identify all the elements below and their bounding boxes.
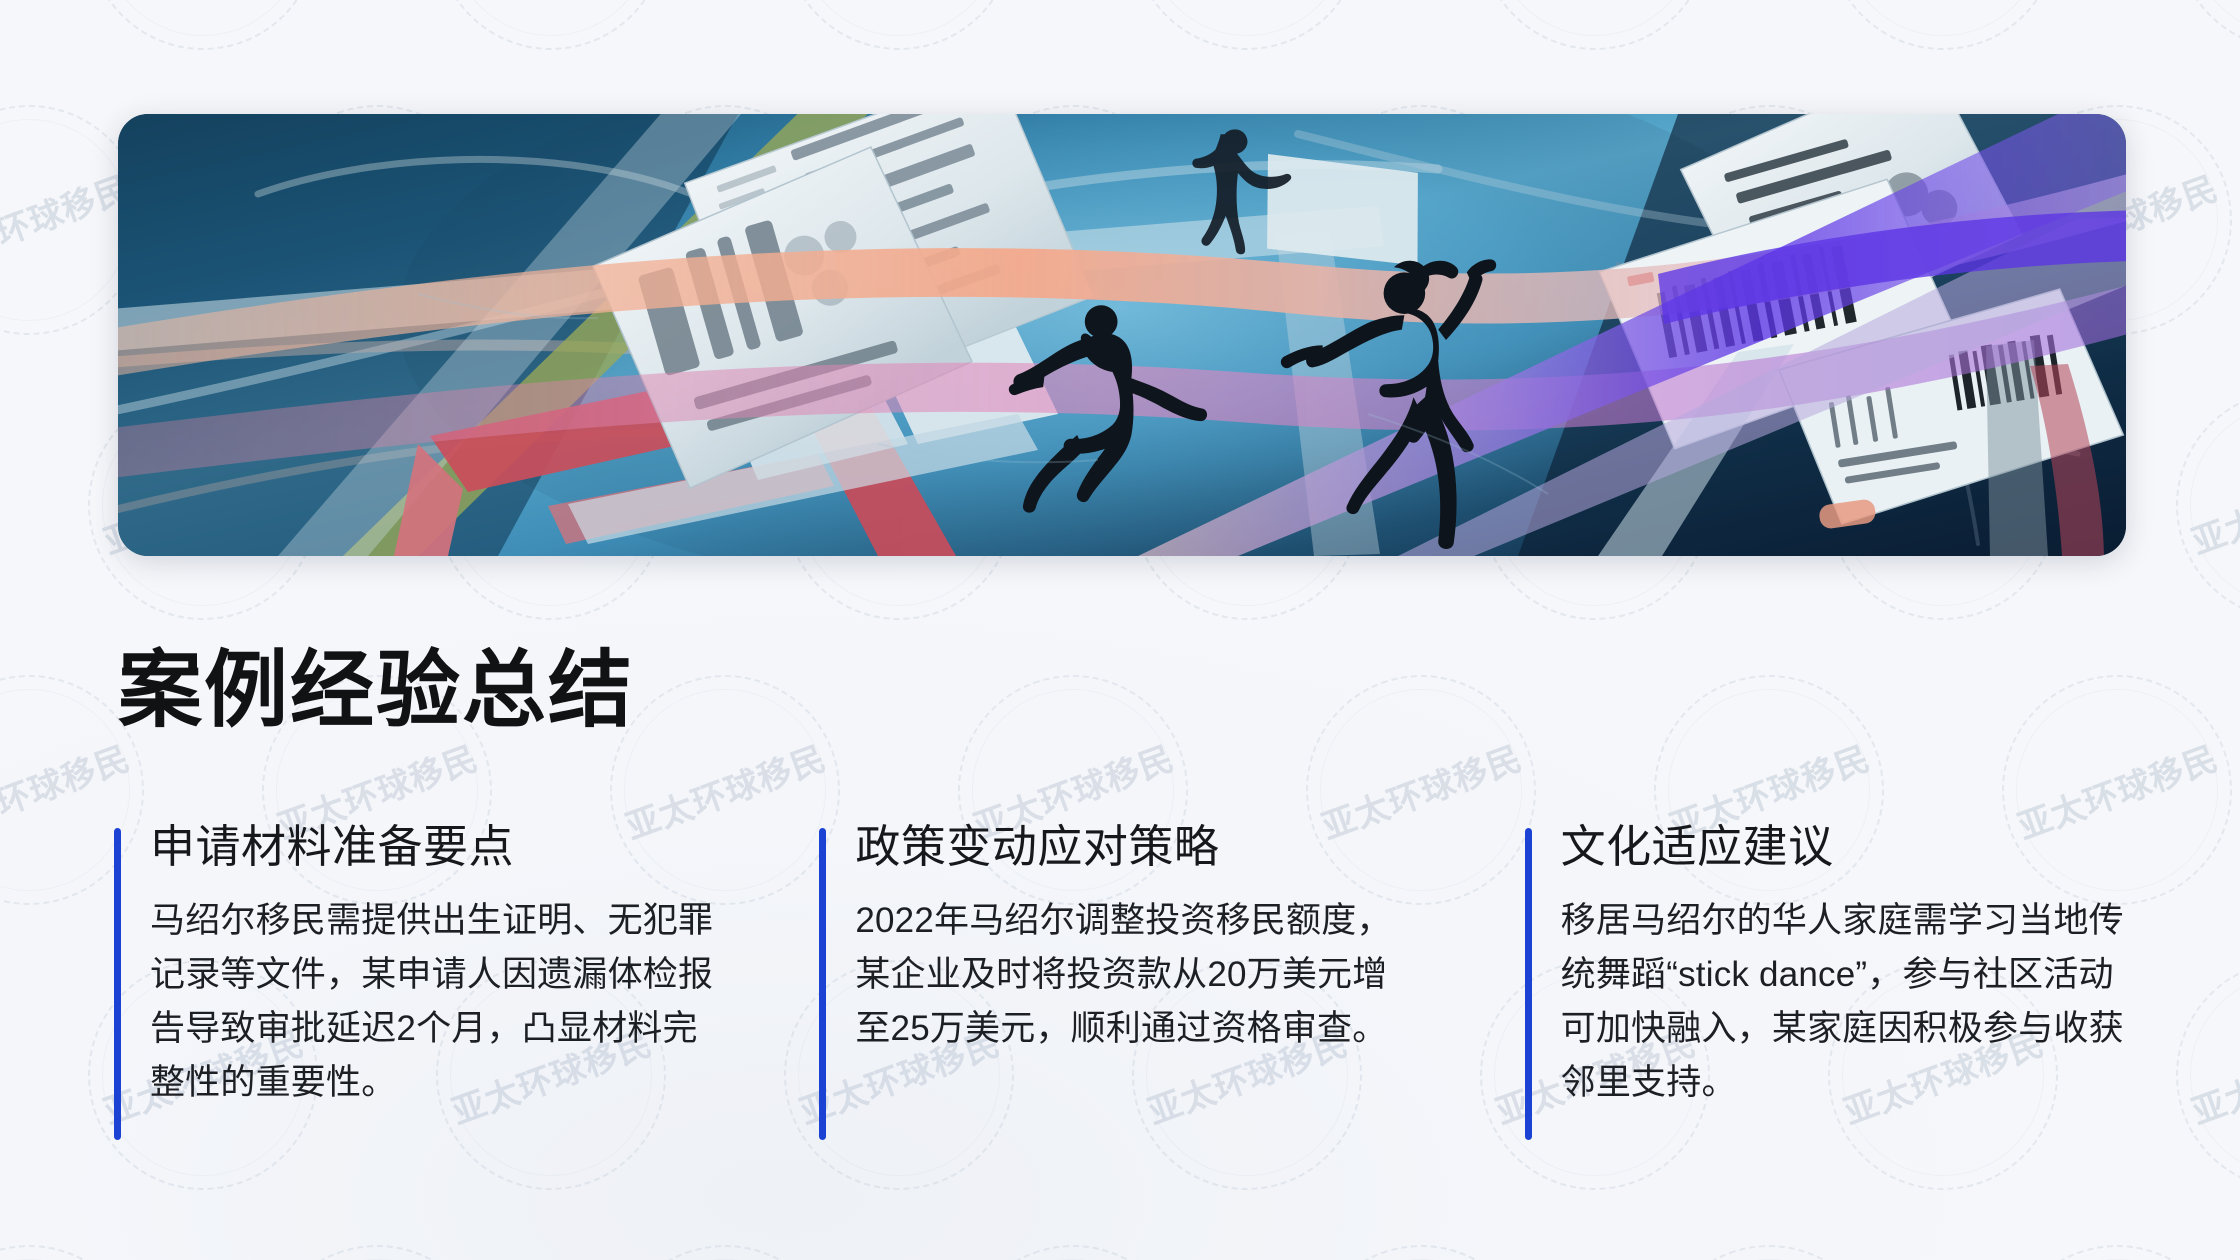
watermark-ring-inner bbox=[2162, 946, 2240, 1205]
watermark-ring-inner bbox=[1640, 1231, 1899, 1260]
card-title: 申请材料准备要点 bbox=[150, 822, 715, 872]
watermark-stamp: 亚太环球移民 bbox=[926, 1213, 1221, 1260]
watermark-stamp: 亚太环球移民 bbox=[2144, 928, 2240, 1223]
watermark-ring-inner bbox=[596, 1231, 855, 1260]
watermark-stamp: 亚太环球移民 bbox=[1796, 0, 2091, 82]
watermark-stamp: 亚太环球移民 bbox=[230, 1213, 525, 1260]
card-body: 移居马绍尔的华人家庭需学习当地传统舞蹈“stick dance”，参与社区活动可… bbox=[1561, 894, 2126, 1110]
watermark-ring-outer bbox=[0, 0, 2, 82]
watermark-ring-outer bbox=[1796, 0, 2091, 82]
watermark-ring-inner bbox=[1988, 1231, 2240, 1260]
hero-illustration bbox=[118, 114, 2126, 556]
accent-bar bbox=[819, 828, 826, 1140]
watermark-stamp: 亚太环球移民 bbox=[1100, 0, 1395, 82]
watermark-stamp: 亚太环球移民 bbox=[2144, 358, 2240, 653]
watermark-stamp: 亚太环球移民 bbox=[0, 0, 2, 82]
accent-bar bbox=[1525, 828, 1532, 1140]
watermark-ring-outer bbox=[1622, 1213, 1917, 1260]
watermark-ring-outer bbox=[2144, 358, 2240, 653]
watermark-ring-outer bbox=[404, 0, 699, 82]
watermark-stamp: 亚太环球移民 bbox=[1970, 1213, 2240, 1260]
watermark-ring-outer bbox=[752, 0, 1047, 82]
watermark-ring-outer bbox=[1448, 0, 1743, 82]
watermark-stamp: 亚太环球移民 bbox=[1448, 0, 1743, 82]
watermark-ring-outer bbox=[56, 0, 351, 82]
watermark-ring-inner bbox=[1292, 1231, 1551, 1260]
watermark-stamp: 亚太环球移民 bbox=[752, 0, 1047, 82]
watermark-stamp: 亚太环球移民 bbox=[0, 358, 2, 653]
summary-card-cultural-adaptation: 文化适应建议 移居马绍尔的华人家庭需学习当地传统舞蹈“stick dance”，… bbox=[1525, 822, 2126, 1146]
watermark-stamp: 亚太环球移民 bbox=[1622, 1213, 1917, 1260]
card-title: 政策变动应对策略 bbox=[855, 822, 1420, 872]
watermark-ring-inner bbox=[248, 1231, 507, 1260]
accent-bar bbox=[114, 828, 121, 1140]
watermark-ring-inner bbox=[74, 0, 333, 64]
watermark-stamp: 亚太环球移民 bbox=[0, 1213, 176, 1260]
watermark-ring-outer bbox=[2144, 0, 2240, 82]
watermark-stamp: 亚太环球移民 bbox=[1274, 1213, 1569, 1260]
watermark-ring-outer bbox=[1274, 1213, 1569, 1260]
watermark-label: 亚太环球移民 bbox=[2175, 1013, 2240, 1138]
watermark-ring-outer bbox=[2144, 928, 2240, 1223]
watermark-stamp: 亚太环球移民 bbox=[2144, 0, 2240, 82]
watermark-ring-outer bbox=[578, 1213, 873, 1260]
page-title: 案例经验总结 bbox=[118, 648, 634, 732]
watermark-ring-inner bbox=[1118, 0, 1377, 64]
card-body: 马绍尔移民需提供出生证明、无犯罪记录等文件，某申请人因遗漏体检报告导致审批延迟2… bbox=[150, 894, 715, 1110]
watermark-ring-outer bbox=[926, 1213, 1221, 1260]
summary-card-policy-change: 政策变动应对策略 2022年马绍尔调整投资移民额度，某企业及时将投资款从20万美… bbox=[819, 822, 1420, 1146]
watermark-ring-inner bbox=[0, 1231, 158, 1260]
watermark-ring-outer bbox=[1970, 1213, 2240, 1260]
watermark-ring-outer bbox=[0, 358, 2, 653]
watermark-stamp: 亚太环球移民 bbox=[404, 0, 699, 82]
watermark-stamp: 亚太环球移民 bbox=[0, 928, 2, 1223]
watermark-stamp: 亚太环球移民 bbox=[56, 0, 351, 82]
watermark-ring-outer bbox=[0, 1213, 176, 1260]
card-body: 2022年马绍尔调整投资移民额度，某企业及时将投资款从20万美元增至25万美元，… bbox=[855, 894, 1420, 1056]
watermark-ring-inner bbox=[944, 1231, 1203, 1260]
summary-card-application-materials: 申请材料准备要点 马绍尔移民需提供出生证明、无犯罪记录等文件，某申请人因遗漏体检… bbox=[114, 822, 715, 1146]
watermark-ring-outer bbox=[0, 928, 2, 1223]
summary-card-list: 申请材料准备要点 马绍尔移民需提供出生证明、无犯罪记录等文件，某申请人因遗漏体检… bbox=[114, 822, 2126, 1146]
watermark-ring-outer bbox=[230, 1213, 525, 1260]
watermark-ring-inner bbox=[422, 0, 681, 64]
card-title: 文化适应建议 bbox=[1561, 822, 2126, 872]
watermark-ring-inner bbox=[2162, 376, 2240, 635]
page-root: 案例经验总结 申请材料准备要点 马绍尔移民需提供出生证明、无犯罪记录等文件，某申… bbox=[0, 0, 2240, 1260]
watermark-ring-outer bbox=[1100, 0, 1395, 82]
watermark-ring-inner bbox=[1466, 0, 1725, 64]
watermark-ring-inner bbox=[770, 0, 1029, 64]
watermark-label: 亚太环球移民 bbox=[2175, 443, 2240, 568]
watermark-ring-inner bbox=[2162, 0, 2240, 64]
watermark-ring-inner bbox=[1814, 0, 2073, 64]
hero-image bbox=[118, 114, 2126, 556]
watermark-stamp: 亚太环球移民 bbox=[578, 1213, 873, 1260]
